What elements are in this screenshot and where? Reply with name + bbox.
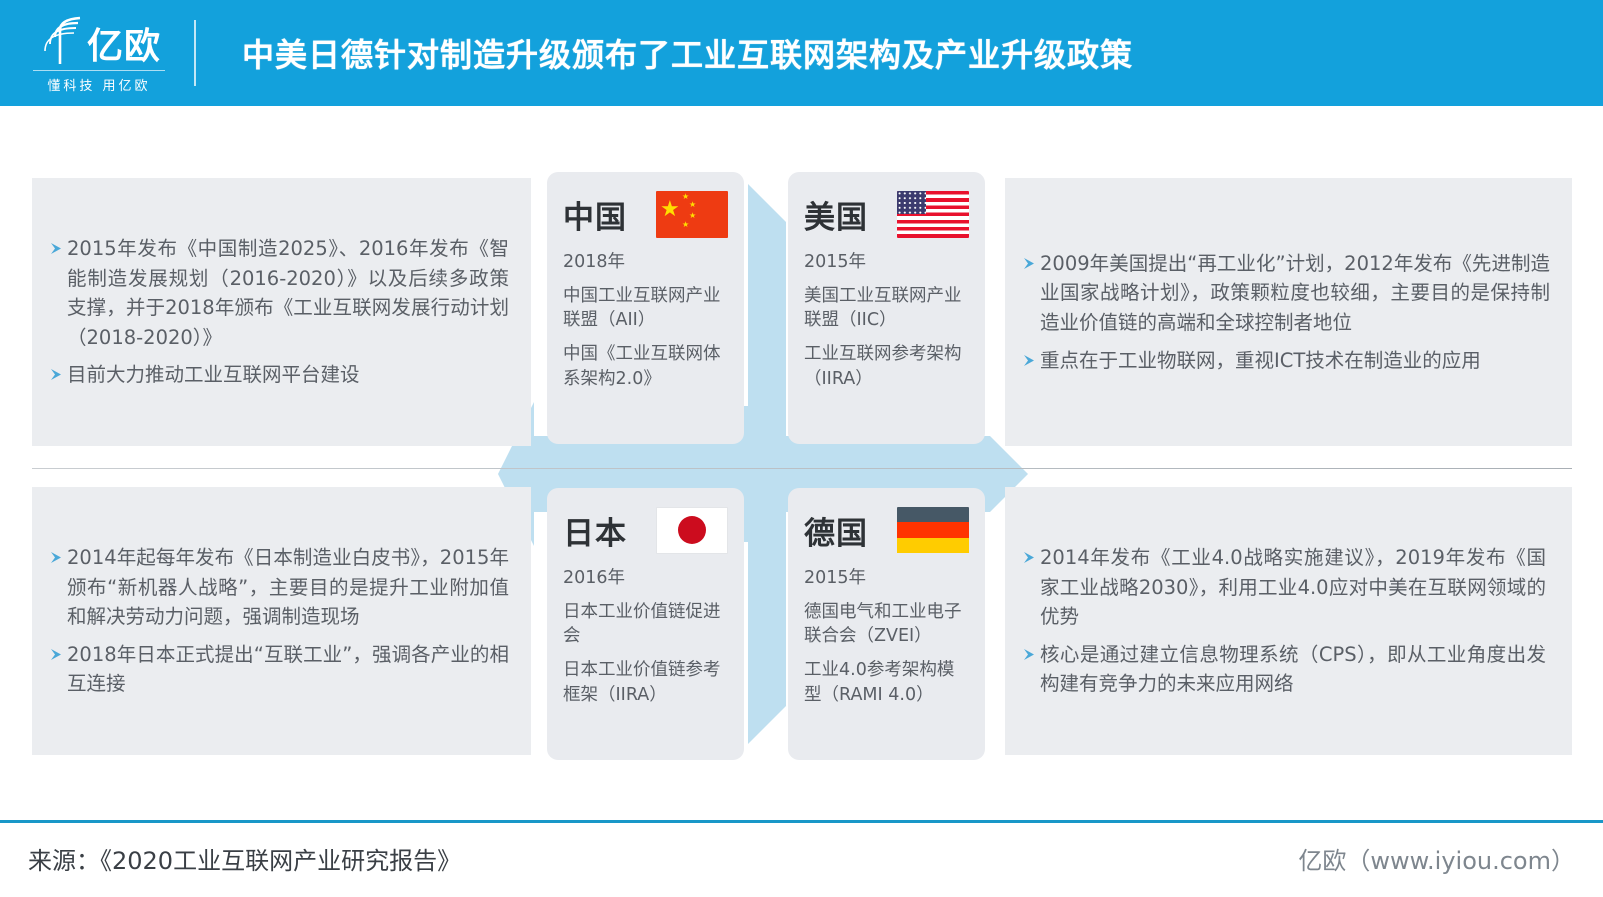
bullet-item: 2014年发布《工业4.0战略实施建议》，2019年发布《国家工业战略2030》… xyxy=(1023,543,1546,632)
country-name: 德国 xyxy=(804,508,868,553)
star-glyph: ★ xyxy=(689,212,696,220)
yiou-logo-icon xyxy=(37,15,83,65)
country-card-japan: 日本 2016年 日本工业价值链促进会 日本工业价值链参考框架（IIRA） xyxy=(547,488,744,760)
chevron-right-icon xyxy=(1023,254,1038,274)
logo-wordmark: 亿欧 xyxy=(87,29,161,65)
arrow-segment-bottom-vertical xyxy=(748,512,786,744)
card-header: 美国 xyxy=(804,186,969,242)
flag-stars xyxy=(897,191,926,215)
bullet-text: 2014年发布《工业4.0战略实施建议》，2019年发布《国家工业战略2030》… xyxy=(1040,543,1546,632)
chevron-right-icon xyxy=(50,239,65,259)
country-name: 美国 xyxy=(804,192,868,237)
bullet-text: 核心是通过建立信息物理系统（CPS），即从工业角度出发构建有竞争力的未来应用网络 xyxy=(1040,640,1546,699)
card-year: 2016年 xyxy=(563,566,728,590)
page-footer: 来源：《2020工业互联网产业研究报告》 亿欧（www.iyiou.com） xyxy=(0,823,1603,897)
country-card-germany: 德国 2015年 德国电气和工业电子联合会（ZVEI） 工业4.0参考架构模型（… xyxy=(788,488,985,760)
footer-brand: 亿欧（www.iyiou.com） xyxy=(1298,841,1575,876)
bullet-text: 目前大力推动工业互联网平台建设 xyxy=(67,360,509,390)
card-year: 2015年 xyxy=(804,250,969,274)
page-title: 中美日德针对制造升级颁布了工业互联网架构及产业升级政策 xyxy=(242,30,1133,76)
bullet-text: 2009年美国提出“再工业化”计划，2012年发布《先进制造业国家战略计划》，政… xyxy=(1040,249,1550,338)
logo-row: 亿欧 xyxy=(37,13,161,65)
country-name: 中国 xyxy=(563,192,627,237)
bullet-item: 重点在于工业物联网，重视ICT技术在制造业的应用 xyxy=(1023,346,1550,376)
arrow-segment-top-vertical xyxy=(748,184,786,436)
bullet-text: 2014年起每年发布《日本制造业白皮书》，2015年颁布“新机器人战略”，主要目… xyxy=(67,543,509,632)
bullet-text: 重点在于工业物联网，重视ICT技术在制造业的应用 xyxy=(1040,346,1550,376)
chevron-right-icon xyxy=(50,548,65,568)
flag-canton xyxy=(897,191,926,215)
bullet-text: 2015年发布《中国制造2025》、2016年发布《智能制造发展规划（2016-… xyxy=(67,234,509,353)
bullet-item: 2018年日本正式提出“互联工业”，强调各产业的相互连接 xyxy=(50,640,509,699)
card-header: 日本 xyxy=(563,502,728,558)
card-organization: 德国电气和工业电子联合会（ZVEI） xyxy=(804,600,969,648)
card-organization: 美国工业互联网产业联盟（IIC） xyxy=(804,284,969,332)
card-framework: 日本工业价值链参考框架（IIRA） xyxy=(563,658,728,706)
card-header: 德国 xyxy=(804,502,969,558)
logo-divider xyxy=(33,70,165,71)
country-card-usa: 美国 2015年 美国工业互联网产业联盟（IIC） 工业互联网参考架构（IIRA… xyxy=(788,172,985,444)
panel-japan-policy: 2014年起每年发布《日本制造业白皮书》，2015年颁布“新机器人战略”，主要目… xyxy=(32,487,531,755)
flag-band-gold xyxy=(897,538,969,554)
card-year: 2018年 xyxy=(563,250,728,274)
chevron-right-icon xyxy=(1023,548,1038,568)
chevron-right-icon xyxy=(50,365,65,385)
flag-band-black xyxy=(897,507,969,523)
logo-tagline: 懂科技 用亿欧 xyxy=(47,75,150,94)
panel-usa-policy: 2009年美国提出“再工业化”计划，2012年发布《先进制造业国家战略计划》，政… xyxy=(1005,178,1572,446)
page-header: 亿欧 懂科技 用亿欧 中美日德针对制造升级颁布了工业互联网架构及产业升级政策 xyxy=(0,0,1603,106)
flag-usa-icon xyxy=(897,191,969,238)
card-year: 2015年 xyxy=(804,566,969,590)
chevron-right-icon xyxy=(1023,351,1038,371)
card-framework: 工业互联网参考架构（IIRA） xyxy=(804,342,969,390)
star-glyph: ★ xyxy=(660,198,680,220)
row-divider xyxy=(32,468,1572,469)
bullet-item: 2015年发布《中国制造2025》、2016年发布《智能制造发展规划（2016-… xyxy=(50,234,509,353)
chevron-right-icon xyxy=(50,645,65,665)
brand-logo: 亿欧 懂科技 用亿欧 xyxy=(0,0,190,106)
bullet-item: 目前大力推动工业互联网平台建设 xyxy=(50,360,509,390)
flag-japan-icon xyxy=(656,507,728,554)
flag-china-icon: ★ ★ ★ ★ ★ xyxy=(656,191,728,238)
bullet-item: 核心是通过建立信息物理系统（CPS），即从工业角度出发构建有竞争力的未来应用网络 xyxy=(1023,640,1546,699)
footer-source: 来源：《2020工业互联网产业研究报告》 xyxy=(28,841,461,876)
bullet-text: 2018年日本正式提出“互联工业”，强调各产业的相互连接 xyxy=(67,640,509,699)
country-card-china: 中国 ★ ★ ★ ★ ★ 2018年 中国工业互联网产业联盟（AII） 中国《工… xyxy=(547,172,744,444)
header-vertical-divider xyxy=(194,20,196,86)
star-glyph: ★ xyxy=(689,201,696,209)
flag-sun-disc xyxy=(678,516,706,544)
card-header: 中国 ★ ★ ★ ★ ★ xyxy=(563,186,728,242)
card-organization: 日本工业价值链促进会 xyxy=(563,600,728,648)
chevron-right-icon xyxy=(1023,645,1038,665)
panel-china-policy: 2015年发布《中国制造2025》、2016年发布《智能制造发展规划（2016-… xyxy=(32,178,531,446)
bullet-item: 2009年美国提出“再工业化”计划，2012年发布《先进制造业国家战略计划》，政… xyxy=(1023,249,1550,338)
card-organization: 中国工业互联网产业联盟（AII） xyxy=(563,284,728,332)
country-name: 日本 xyxy=(563,508,627,553)
panel-germany-policy: 2014年发布《工业4.0战略实施建议》，2019年发布《国家工业战略2030》… xyxy=(1005,487,1572,755)
card-framework: 中国《工业互联网体系架构2.0》 xyxy=(563,342,728,390)
star-glyph: ★ xyxy=(682,221,689,229)
bullet-item: 2014年起每年发布《日本制造业白皮书》，2015年颁布“新机器人战略”，主要目… xyxy=(50,543,509,632)
flag-germany-icon xyxy=(897,507,969,554)
card-framework: 工业4.0参考架构模型（RAMI 4.0） xyxy=(804,658,969,706)
flag-band-red xyxy=(897,522,969,538)
